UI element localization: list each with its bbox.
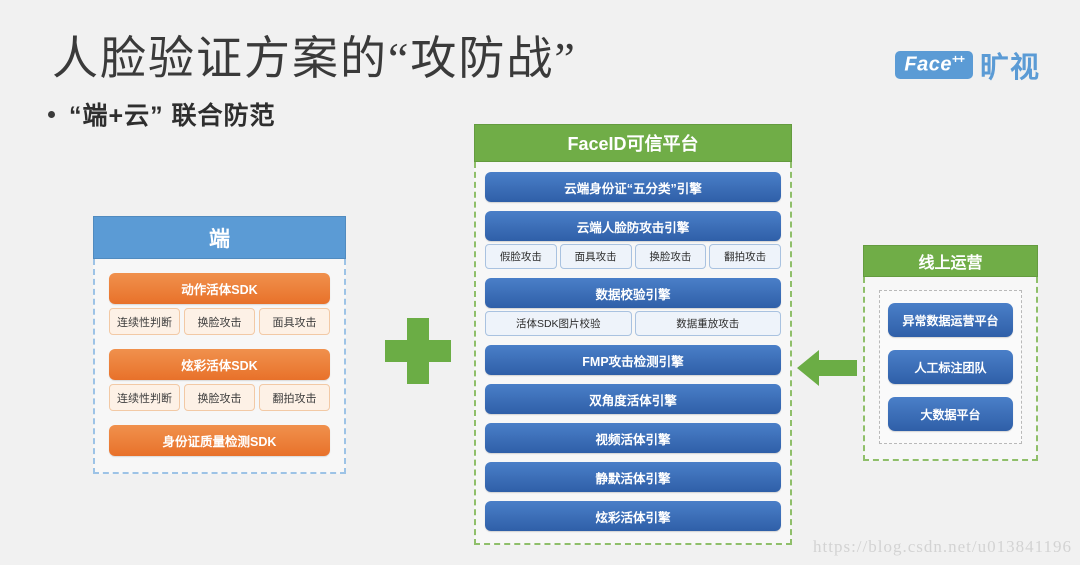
slide-canvas: 人脸验证方案的“攻防战” “端+云” 联合防范 Face++ 旷视 端 动作活体… (0, 0, 1080, 565)
sdk-subitem-row: 连续性判断 换脸攻击 面具攻击 (109, 308, 330, 335)
engine-subitem-row: 假脸攻击 面具攻击 换脸攻击 翻拍攻击 (485, 244, 781, 269)
sdk-subitem[interactable]: 翻拍攻击 (259, 384, 330, 411)
sdk-subitem[interactable]: 面具攻击 (259, 308, 330, 335)
sdk-subitem[interactable]: 换脸攻击 (184, 384, 255, 411)
engine-subitem[interactable]: 假脸攻击 (485, 244, 557, 269)
engine-subitem[interactable]: 数据重放攻击 (635, 311, 782, 336)
online-operations-inner-group: 异常数据运营平台 人工标注团队 大数据平台 (879, 290, 1022, 444)
engine-title[interactable]: FMP攻击检测引擎 (485, 345, 781, 375)
ops-item[interactable]: 大数据平台 (888, 397, 1013, 431)
engine-subitem[interactable]: 面具攻击 (560, 244, 632, 269)
ops-item[interactable]: 人工标注团队 (888, 350, 1013, 384)
device-panel: 端 动作活体SDK 连续性判断 换脸攻击 面具攻击 炫彩活体SDK 连续性判断 … (93, 216, 346, 474)
engine-title[interactable]: 数据校验引擎 (485, 278, 781, 308)
plus-icon (385, 318, 451, 384)
engine-group: 双角度活体引擎 (485, 384, 781, 414)
cloud-platform-header: FaceID可信平台 (474, 124, 792, 162)
page-title: 人脸验证方案的“攻防战” (52, 22, 577, 88)
engine-group: 数据校验引擎 活体SDK图片校验 数据重放攻击 (485, 278, 781, 336)
watermark: https://blog.csdn.net/u013841196 (813, 537, 1072, 557)
sdk-subitem[interactable]: 换脸攻击 (184, 308, 255, 335)
subtitle-row: “端+云” 联合防范 (48, 96, 276, 132)
device-panel-body: 动作活体SDK 连续性判断 换脸攻击 面具攻击 炫彩活体SDK 连续性判断 换脸… (93, 259, 346, 474)
engine-subitem-row: 活体SDK图片校验 数据重放攻击 (485, 311, 781, 336)
sdk-title[interactable]: 身份证质量检测SDK (109, 425, 330, 456)
sdk-title[interactable]: 动作活体SDK (109, 273, 330, 304)
brand-logo: Face++ 旷视 (895, 44, 1040, 86)
engine-group: 炫彩活体引擎 (485, 501, 781, 531)
cloud-platform-panel: FaceID可信平台 云端身份证“五分类”引擎 云端人脸防攻击引擎 假脸攻击 面… (474, 124, 792, 545)
plus-icon-vertical-bar (407, 318, 429, 384)
engine-title[interactable]: 炫彩活体引擎 (485, 501, 781, 531)
sdk-group: 炫彩活体SDK 连续性判断 换脸攻击 翻拍攻击 (109, 349, 330, 411)
page-subtitle: “端+云” 联合防范 (69, 96, 276, 132)
sdk-group: 动作活体SDK 连续性判断 换脸攻击 面具攻击 (109, 273, 330, 335)
engine-subitem[interactable]: 翻拍攻击 (709, 244, 781, 269)
sdk-subitem-row: 连续性判断 换脸攻击 翻拍攻击 (109, 384, 330, 411)
cloud-platform-body: 云端身份证“五分类”引擎 云端人脸防攻击引擎 假脸攻击 面具攻击 换脸攻击 翻拍… (474, 162, 792, 545)
face-plus-plus-badge: Face++ (895, 51, 973, 80)
left-arrow-icon (797, 348, 857, 388)
online-operations-panel: 线上运营 异常数据运营平台 人工标注团队 大数据平台 (863, 245, 1038, 461)
sdk-subitem[interactable]: 连续性判断 (109, 308, 180, 335)
sdk-group: 身份证质量检测SDK (109, 425, 330, 456)
engine-group: 云端身份证“五分类”引擎 (485, 172, 781, 202)
device-panel-header: 端 (93, 216, 346, 259)
sdk-title[interactable]: 炫彩活体SDK (109, 349, 330, 380)
engine-subitem[interactable]: 活体SDK图片校验 (485, 311, 632, 336)
ops-item[interactable]: 异常数据运营平台 (888, 303, 1013, 337)
engine-title[interactable]: 静默活体引擎 (485, 462, 781, 492)
sdk-subitem[interactable]: 连续性判断 (109, 384, 180, 411)
logo-badge-superscript: ++ (952, 52, 964, 66)
engine-subitem[interactable]: 换脸攻击 (635, 244, 707, 269)
engine-group: FMP攻击检测引擎 (485, 345, 781, 375)
logo-badge-text: Face (904, 53, 952, 75)
logo-brand-cn: 旷视 (980, 44, 1040, 86)
online-operations-body: 异常数据运营平台 人工标注团队 大数据平台 (863, 277, 1038, 461)
online-operations-header: 线上运营 (863, 245, 1038, 277)
engine-group: 云端人脸防攻击引擎 假脸攻击 面具攻击 换脸攻击 翻拍攻击 (485, 211, 781, 269)
engine-title[interactable]: 云端人脸防攻击引擎 (485, 211, 781, 241)
engine-group: 静默活体引擎 (485, 462, 781, 492)
engine-title[interactable]: 云端身份证“五分类”引擎 (485, 172, 781, 202)
engine-title[interactable]: 双角度活体引擎 (485, 384, 781, 414)
bullet-icon (48, 111, 55, 118)
engine-group: 视频活体引擎 (485, 423, 781, 453)
engine-title[interactable]: 视频活体引擎 (485, 423, 781, 453)
